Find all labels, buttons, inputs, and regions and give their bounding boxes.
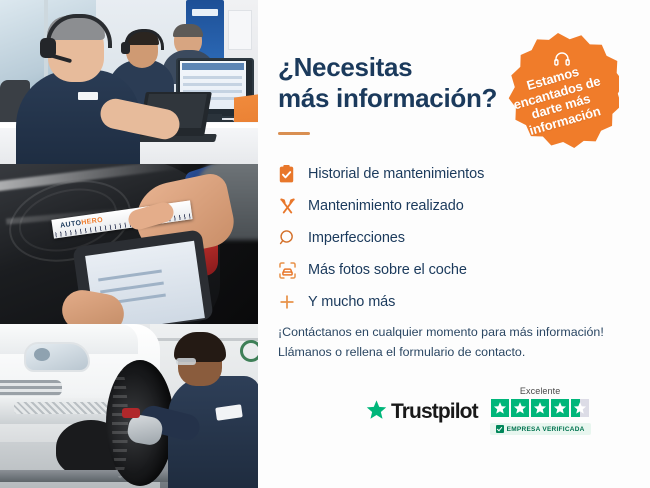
photo3-safety-glasses <box>176 358 196 365</box>
trustpilot-rating-block: Excelente <box>490 386 591 435</box>
photo-wheel-check <box>0 324 258 488</box>
title-divider <box>278 132 310 135</box>
rating-star-filled <box>511 399 529 417</box>
rating-star-filled <box>491 399 509 417</box>
photo3-tyre-tread <box>112 368 128 478</box>
magnifier-icon <box>278 229 308 247</box>
photo1-person2-headset-cup <box>121 42 130 54</box>
photo-column: AUTOHERO <box>0 0 258 488</box>
rating-star-half <box>571 399 589 417</box>
rating-star-filled <box>531 399 549 417</box>
contact-paragraph-line-2: Llámanos o rellena el formulario de cont… <box>278 345 525 359</box>
headline-line-2: más información? <box>278 83 497 113</box>
headline-line-1: ¿Necesitas <box>278 52 412 82</box>
photo-vehicle-inspection: AUTOHERO <box>0 164 258 324</box>
photo1-agent-name-tag <box>78 92 98 100</box>
trustpilot-widget[interactable]: Trustpilot Excelente <box>366 386 591 435</box>
information-banner: AUTOHERO <box>0 0 650 488</box>
wrench-screwdriver-icon <box>278 197 308 216</box>
clipboard-check-icon <box>278 165 308 184</box>
support-badge: Estamos encantados de darte más informac… <box>497 33 619 155</box>
photo3-hand-tool <box>122 408 140 418</box>
verified-company-label: EMPRESA VERIFICADA <box>507 426 585 433</box>
verified-company-badge: EMPRESA VERIFICADA <box>490 423 591 435</box>
photo1-poster <box>228 10 252 50</box>
trustpilot-star-icon <box>366 399 387 425</box>
feature-label: Mantenimiento realizado <box>308 198 464 214</box>
trustpilot-logo[interactable]: Trustpilot <box>366 399 478 425</box>
feature-label: Imperfecciones <box>308 230 405 246</box>
feature-item-imperfections: Imperfecciones <box>278 222 588 254</box>
car-focus-frame-icon <box>278 261 308 280</box>
photo1-monitor-row <box>183 76 242 79</box>
content-panel: ¿Necesitas más información? Estamos enca… <box>258 0 650 488</box>
contact-paragraph: ¡Contáctanos en cualquier momento para m… <box>278 322 638 362</box>
photo3-grille <box>0 380 62 396</box>
photo3-lower-grille <box>14 402 118 414</box>
verified-check-icon <box>496 425 504 433</box>
feature-item-maintenance-done: Mantenimiento realizado <box>278 190 588 222</box>
photo1-monitor-toolbar <box>182 63 244 70</box>
rating-star-filled <box>551 399 569 417</box>
feature-item-much-more: Y mucho más <box>278 286 588 318</box>
trustpilot-star-rating <box>491 399 589 417</box>
feature-label: Y mucho más <box>308 294 395 310</box>
photo-call-center-agent <box>0 0 258 164</box>
trustpilot-wordmark: Trustpilot <box>391 400 478 424</box>
plus-icon <box>278 293 308 311</box>
feature-list: Historial de mantenimientos Mantenimient… <box>278 158 588 318</box>
feature-item-maintenance-history: Historial de mantenimientos <box>278 158 588 190</box>
photo3-headlight-lens <box>34 348 50 361</box>
photo1-monitor-row <box>183 83 242 86</box>
feature-label: Más fotos sobre el coche <box>308 262 467 278</box>
contact-paragraph-line-1: ¡Contáctanos en cualquier momento para m… <box>278 325 604 339</box>
photo1-person3-hair <box>173 24 203 37</box>
photo3-hose-reel <box>240 340 258 362</box>
page-title: ¿Necesitas más información? <box>278 52 497 113</box>
feature-item-more-photos: Más fotos sobre el coche <box>278 254 588 286</box>
trustpilot-rating-label: Excelente <box>520 386 560 396</box>
feature-label: Historial de mantenimientos <box>308 166 484 182</box>
